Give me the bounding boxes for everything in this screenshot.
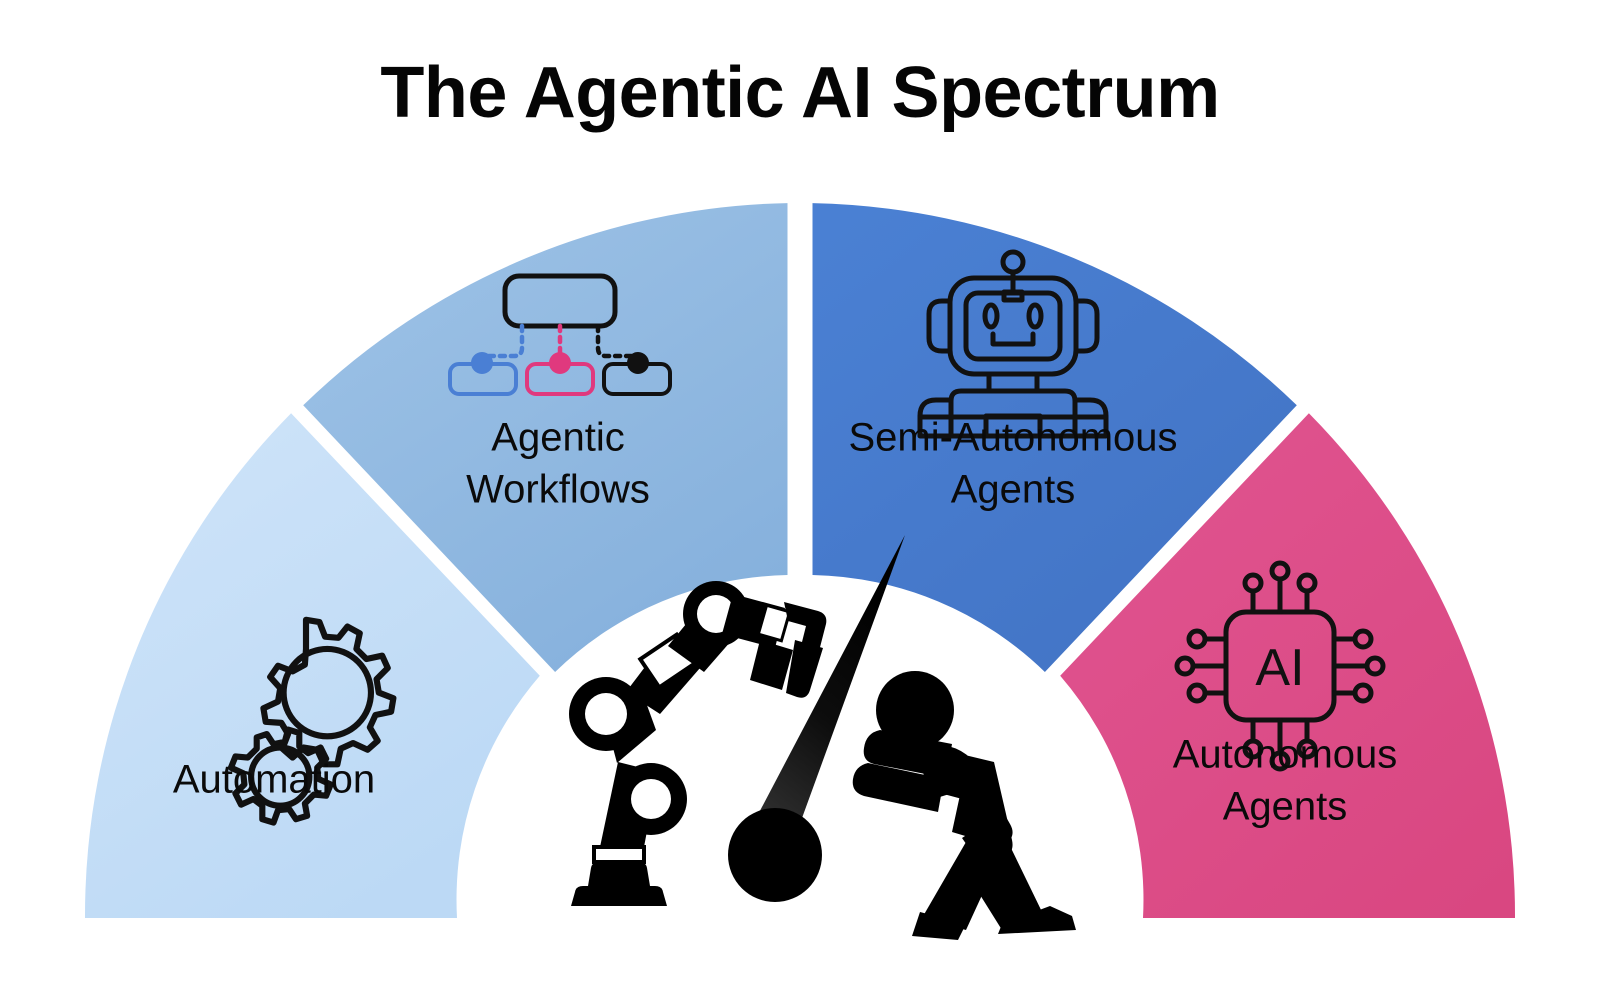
human-pushing-icon bbox=[853, 671, 1076, 940]
workflow-dot-black bbox=[627, 352, 649, 374]
workflow-dot-blue bbox=[471, 352, 493, 374]
segment-agentic-workflows-label-line2: Workflows bbox=[466, 468, 650, 512]
gauge-needle-hub bbox=[728, 808, 822, 902]
segment-semi-autonomous-agents-label-line2: Agents bbox=[951, 468, 1076, 512]
segment-automation-label-line1: Automation bbox=[173, 758, 375, 802]
agentic-spectrum-gauge: Automation Agentic Workflows bbox=[0, 0, 1600, 1000]
segment-autonomous-agents-label-line1: Autonomous bbox=[1173, 733, 1398, 777]
infographic-canvas: The Agentic AI Spectrum bbox=[0, 0, 1600, 1000]
segment-semi-autonomous-agents-label-line1: Semi-Autonomous bbox=[848, 416, 1177, 460]
segment-agentic-workflows-label-line1: Agentic bbox=[491, 416, 624, 460]
workflow-dot-pink bbox=[549, 352, 571, 374]
ai-chip-label: AI bbox=[1255, 639, 1304, 697]
segment-autonomous-agents-label-line2: Agents bbox=[1223, 785, 1348, 829]
